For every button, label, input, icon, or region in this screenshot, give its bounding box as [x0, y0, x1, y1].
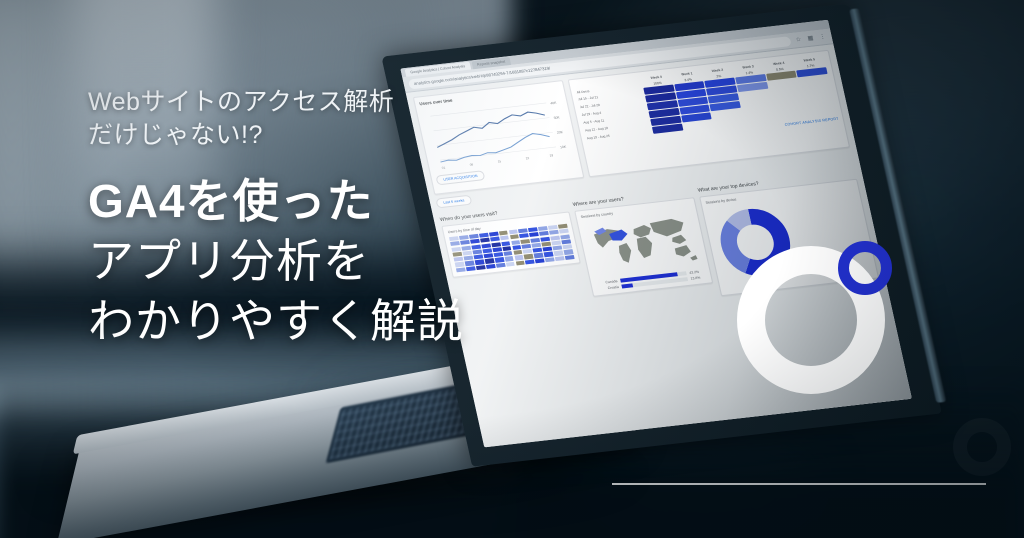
where-column: Where are your users? Sessions by countr…: [571, 184, 716, 311]
country-value-0: 43.2%: [689, 269, 706, 275]
decorative-dark-ring: [953, 418, 1011, 476]
country-value-1: 13.8%: [690, 275, 707, 281]
menu-dots-icon[interactable]: ⋮: [818, 33, 828, 42]
world-map: [582, 210, 702, 275]
hero-subtitle-line1: Webサイトのアクセス解析: [88, 86, 558, 119]
svg-text:10K: 10K: [560, 145, 568, 150]
hero-headline-line2: アプリ分析を: [88, 232, 558, 292]
decorative-blue-ring: [838, 241, 892, 295]
hero-headline-line1: GA4を使った: [88, 172, 558, 232]
hero-headline: GA4を使った アプリ分析を わかりやすく解説: [88, 172, 558, 351]
country-label-1: Croatia: [596, 285, 619, 291]
hero-headline-line3: わかりやすく解説: [88, 292, 558, 352]
sessions-by-country-card: Sessions by country: [574, 197, 713, 297]
star-icon[interactable]: ☆: [794, 35, 804, 44]
cohort-table: Week 0 Week 1 Week 2 Week 3 Week 4 Week …: [574, 55, 838, 142]
hero-copy: Webサイトのアクセス解析 だけじゃない!? GA4を使った アプリ分析を わか…: [88, 86, 558, 351]
decorative-hairline: [612, 483, 986, 485]
hero-subtitle-line2: だけじゃない!?: [88, 119, 558, 152]
country-bar-fill: [621, 283, 633, 288]
hero-banner: Google Analytics | Cohort Analysis Repor…: [0, 0, 1024, 538]
extension-icon[interactable]: ▦: [806, 34, 816, 43]
